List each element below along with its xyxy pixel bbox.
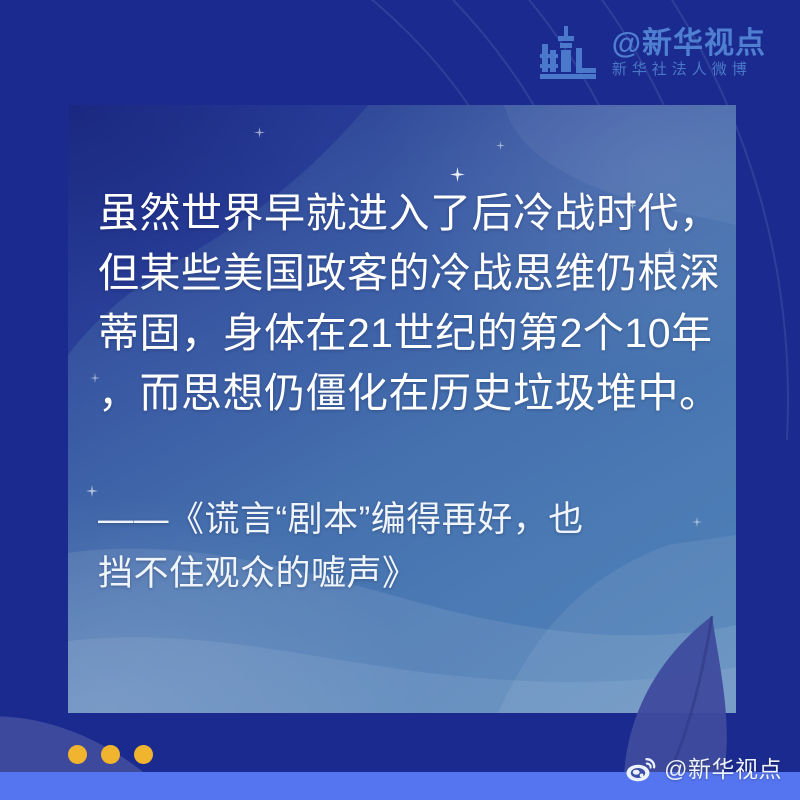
poster-canvas: @新华视点 新华社法人微博 虽然世界早就进入了后冷战时代， 但某些美国政客的冷战… (0, 0, 800, 800)
footer-dot (101, 745, 120, 764)
watermark-label: @新华视点 (664, 758, 782, 781)
footer-dots (68, 745, 153, 764)
quote-line: 蒂固，身体在21世纪的第2个10年 (98, 303, 710, 363)
quote-line: 但某些美国政客的冷战思维仍根深 (98, 243, 710, 303)
brand-text-block: @新华视点 新华社法人微博 (612, 29, 766, 77)
attribution-line: ——《谎言“剧本”编得再好，也 (98, 493, 710, 547)
weibo-watermark: @新华视点 (626, 756, 782, 782)
xinhua-pagoda-logo-icon (538, 24, 600, 82)
attribution-line: 挡不住观众的嘘声》 (98, 547, 710, 601)
quote-line: ，而思想仍僵化在历史垃圾堆中。 (98, 363, 710, 423)
footer-dot (134, 745, 153, 764)
weibo-icon (626, 756, 656, 782)
brand-header: @新华视点 新华社法人微博 (538, 24, 766, 82)
brand-tagline: 新华社法人微博 (612, 62, 766, 77)
quote-text-block: 虽然世界早就进入了后冷战时代， 但某些美国政客的冷战思维仍根深 蒂固，身体在21… (98, 183, 710, 423)
footer-dot (68, 745, 87, 764)
quote-line: 虽然世界早就进入了后冷战时代， (98, 183, 710, 243)
brand-handle: @新华视点 (612, 29, 766, 59)
attribution-block: ——《谎言“剧本”编得再好，也 挡不住观众的嘘声》 (98, 493, 710, 601)
